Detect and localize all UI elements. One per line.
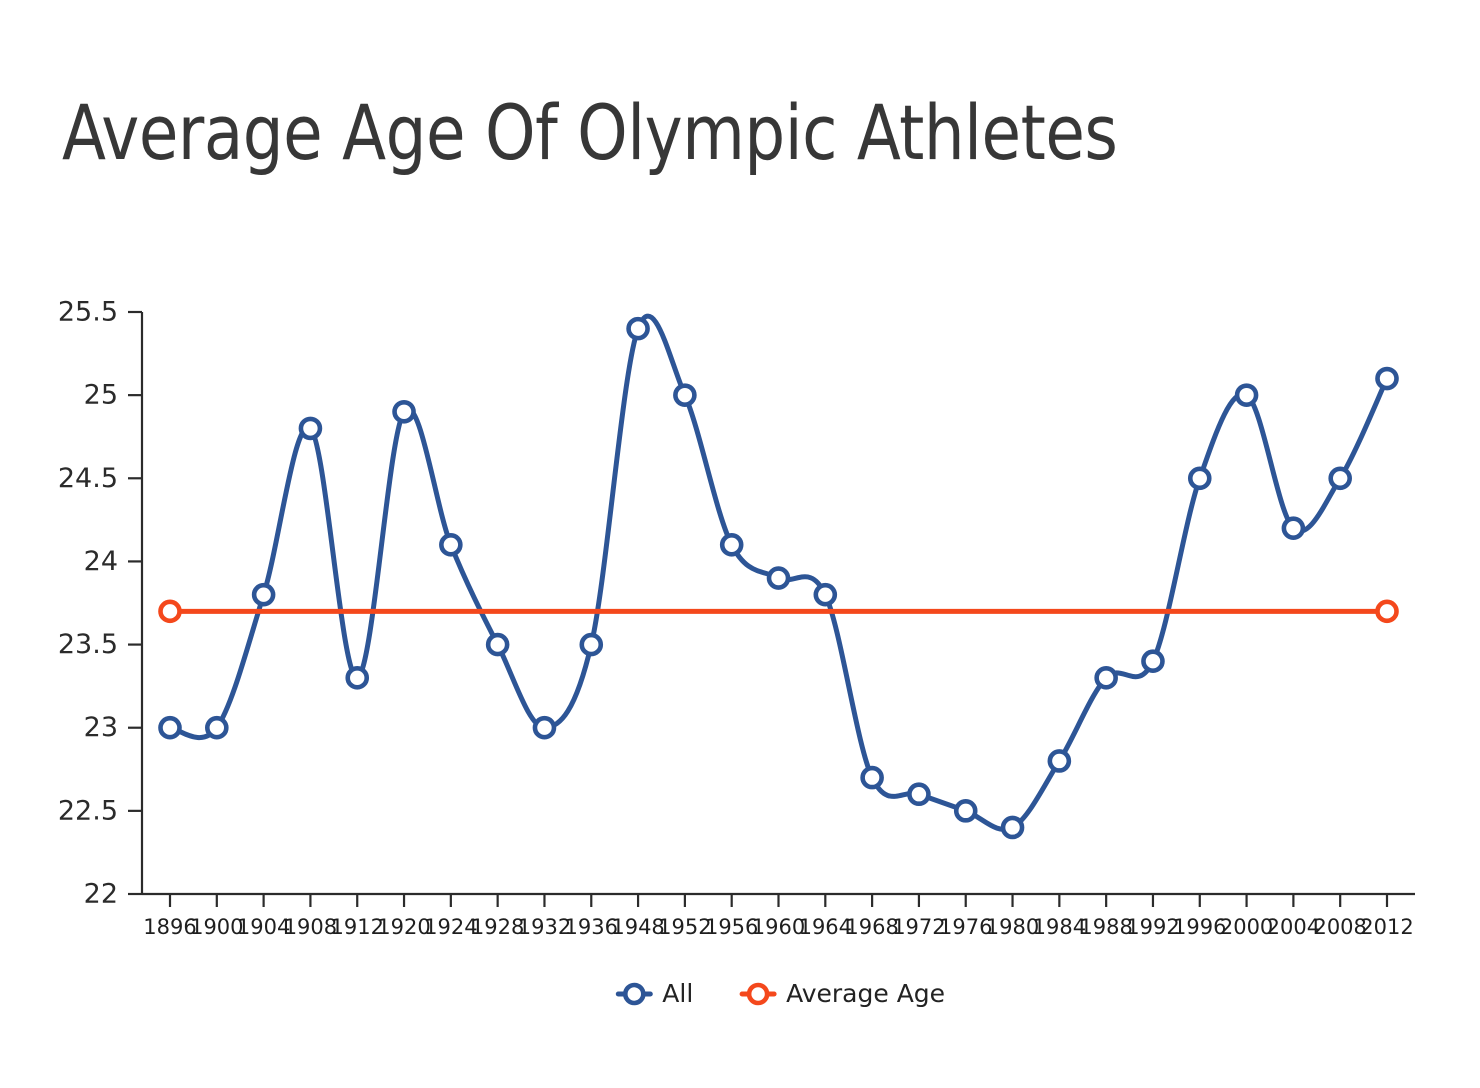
x-tick-label: 1900 <box>190 915 243 939</box>
data-point-all-1964[interactable] <box>816 585 835 604</box>
data-point-all-1972[interactable] <box>909 785 928 804</box>
data-point-all-1980[interactable] <box>1003 818 1022 837</box>
data-point-all-2000[interactable] <box>1237 386 1256 405</box>
data-point-average-age-1896[interactable] <box>161 602 180 621</box>
line-chart: 2222.52323.52424.52525.5 189619001904190… <box>0 0 1480 1088</box>
x-tick-label: 1932 <box>518 915 571 939</box>
legend-item-all-marker-icon[interactable] <box>625 985 643 1003</box>
data-point-all-1968[interactable] <box>863 768 882 787</box>
x-tick-label: 1992 <box>1126 915 1179 939</box>
x-tick-label: 1964 <box>799 915 852 939</box>
data-point-all-1996[interactable] <box>1190 469 1209 488</box>
y-tick-label: 22.5 <box>58 795 118 826</box>
x-tick-label: 1952 <box>658 915 711 939</box>
y-tick-label: 22 <box>84 879 118 910</box>
y-tick-label: 23 <box>84 712 118 743</box>
data-point-all-1956[interactable] <box>722 535 741 554</box>
x-axis: 1896190019041908191219201924192819321936… <box>142 894 1415 939</box>
chart-container: Average Age Of Olympic Athletes 2222.523… <box>0 0 1480 1088</box>
x-tick-label: 1976 <box>939 915 992 939</box>
data-point-all-1896[interactable] <box>161 718 180 737</box>
y-tick-label: 23.5 <box>58 629 118 660</box>
x-tick-label: 2000 <box>1220 915 1273 939</box>
data-point-all-2004[interactable] <box>1284 519 1303 538</box>
y-tick-label: 25.5 <box>58 297 118 328</box>
x-tick-label: 2004 <box>1267 915 1320 939</box>
data-point-all-1904[interactable] <box>254 585 273 604</box>
data-point-all-1960[interactable] <box>769 569 788 588</box>
x-tick-label: 1920 <box>377 915 430 939</box>
y-tick-label: 24 <box>84 546 118 577</box>
x-tick-label: 1988 <box>1079 915 1132 939</box>
x-tick-label: 2012 <box>1360 915 1413 939</box>
x-tick-label: 1912 <box>331 915 384 939</box>
y-axis: 2222.52323.52424.52525.5 <box>58 297 142 910</box>
data-point-all-1976[interactable] <box>956 801 975 820</box>
x-tick-label: 1924 <box>424 915 477 939</box>
data-point-all-1928[interactable] <box>488 635 507 654</box>
chart-legend: AllAverage Age <box>618 979 945 1008</box>
x-tick-label: 1948 <box>611 915 664 939</box>
y-tick-label: 25 <box>84 380 118 411</box>
data-point-all-1952[interactable] <box>675 386 694 405</box>
x-tick-label: 1980 <box>986 915 1039 939</box>
x-tick-label: 1972 <box>892 915 945 939</box>
x-tick-label: 1960 <box>752 915 805 939</box>
data-point-all-1924[interactable] <box>441 535 460 554</box>
series-layer <box>161 316 1397 837</box>
x-tick-label: 2008 <box>1313 915 1366 939</box>
legend-item-all-label[interactable]: All <box>662 979 693 1008</box>
data-point-all-2008[interactable] <box>1331 469 1350 488</box>
x-tick-label: 1928 <box>471 915 524 939</box>
x-tick-label: 1908 <box>284 915 337 939</box>
data-point-all-1900[interactable] <box>207 718 226 737</box>
data-point-all-1932[interactable] <box>535 718 554 737</box>
data-point-all-1988[interactable] <box>1097 668 1116 687</box>
data-point-all-1948[interactable] <box>629 319 648 338</box>
data-point-all-1908[interactable] <box>301 419 320 438</box>
x-tick-label: 1968 <box>845 915 898 939</box>
x-tick-label: 1936 <box>565 915 618 939</box>
data-point-all-1912[interactable] <box>348 668 367 687</box>
x-tick-label: 1896 <box>143 915 196 939</box>
data-point-all-2012[interactable] <box>1378 369 1397 388</box>
legend-item-average-age-label[interactable]: Average Age <box>786 979 945 1008</box>
data-point-all-1992[interactable] <box>1143 652 1162 671</box>
x-tick-label: 1956 <box>705 915 758 939</box>
y-tick-label: 24.5 <box>58 463 118 494</box>
data-point-all-1936[interactable] <box>582 635 601 654</box>
legend-item-average-age-marker-icon[interactable] <box>749 985 767 1003</box>
data-point-all-1984[interactable] <box>1050 751 1069 770</box>
x-tick-label: 1984 <box>1033 915 1086 939</box>
x-tick-label: 1996 <box>1173 915 1226 939</box>
data-point-average-age-2012[interactable] <box>1378 602 1397 621</box>
data-point-all-1920[interactable] <box>395 402 414 421</box>
x-tick-label: 1904 <box>237 915 290 939</box>
